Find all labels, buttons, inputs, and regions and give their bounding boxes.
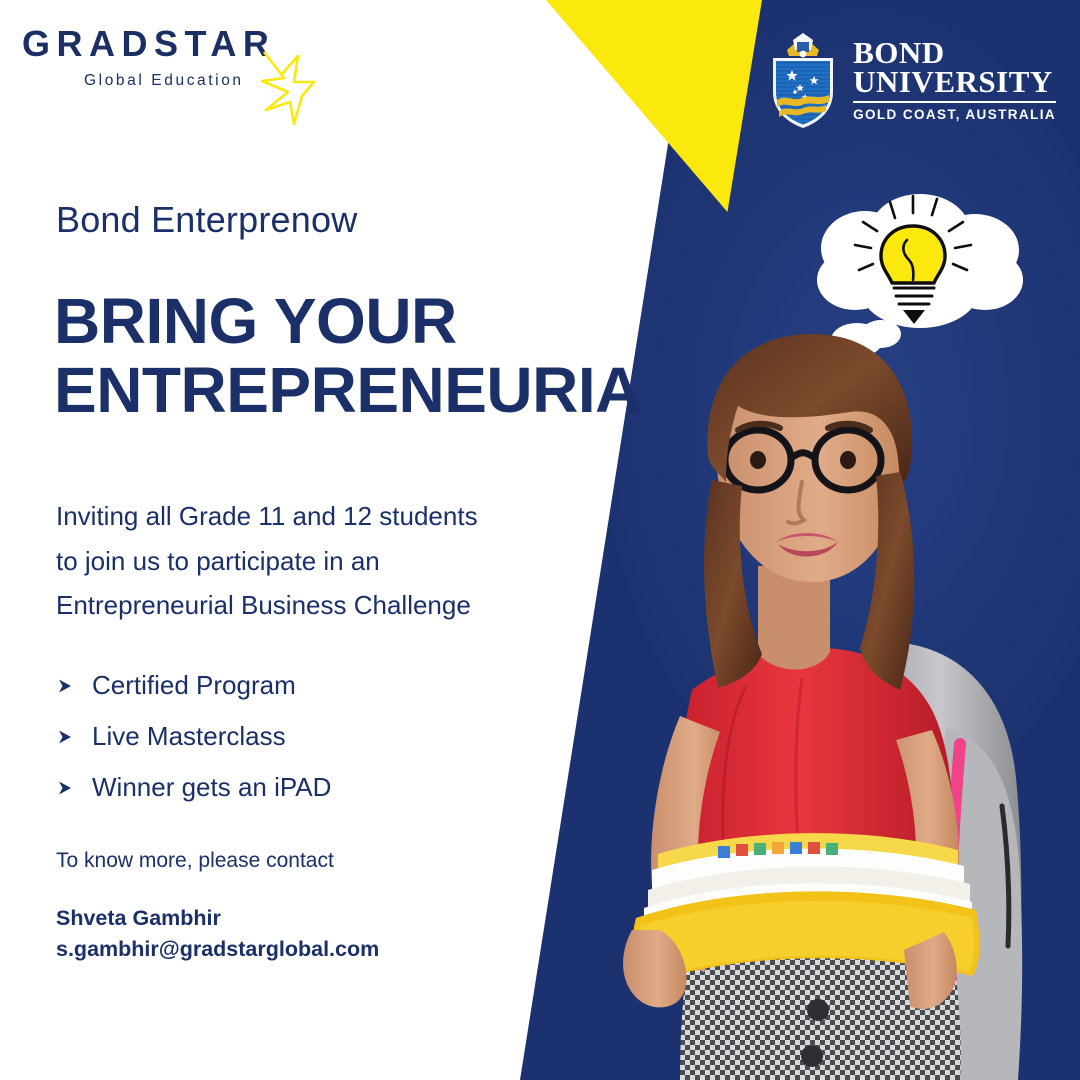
bond-logo-divider	[853, 101, 1056, 103]
contact-details: Shveta Gambhir s.gambhir@gradstarglobal.…	[56, 903, 379, 964]
invitation-paragraph: Inviting all Grade 11 and 12 students to…	[56, 494, 596, 628]
poster-canvas: GRADSTAR Global Education	[0, 0, 1080, 1080]
star-outline-icon	[254, 48, 316, 126]
arrow-bullet-icon	[56, 728, 74, 746]
list-item: Certified Program	[56, 670, 516, 701]
contact-email[interactable]: s.gambhir@gradstarglobal.com	[56, 934, 379, 965]
student-with-books-photo	[540, 330, 1080, 1080]
list-item: Live Masterclass	[56, 721, 516, 752]
gradstar-logo: GRADSTAR Global Education	[22, 26, 322, 112]
contact-prompt: To know more, please contact	[56, 849, 334, 873]
contact-name: Shveta Gambhir	[56, 903, 379, 934]
arrow-bullet-icon	[56, 677, 74, 695]
list-item-label: Certified Program	[92, 670, 296, 701]
bond-name-line-1: BOND	[853, 38, 1056, 67]
list-item: Winner gets an iPAD	[56, 772, 516, 803]
headline-line-1: BRING YOUR	[54, 285, 457, 357]
feature-list: Certified Program Live Masterclass Winne…	[56, 670, 516, 823]
yellow-triangle-accent	[546, 0, 762, 212]
invitation-line-2: to join us to participate in an	[56, 539, 596, 584]
list-item-label: Winner gets an iPAD	[92, 772, 331, 803]
program-eyebrow: Bond Enterprenow	[56, 199, 357, 241]
invitation-line-1: Inviting all Grade 11 and 12 students	[56, 494, 596, 539]
bond-university-crest-icon	[767, 30, 839, 130]
bond-university-logo: BOND UNIVERSITY GOLD COAST, AUSTRALIA	[767, 28, 1056, 132]
bond-location-text: GOLD COAST, AUSTRALIA	[853, 107, 1056, 122]
list-item-label: Live Masterclass	[92, 721, 286, 752]
invitation-line-3: Entrepreneurial Business Challenge	[56, 583, 596, 628]
arrow-bullet-icon	[56, 779, 74, 797]
bond-name-line-2: UNIVERSITY	[853, 67, 1056, 96]
